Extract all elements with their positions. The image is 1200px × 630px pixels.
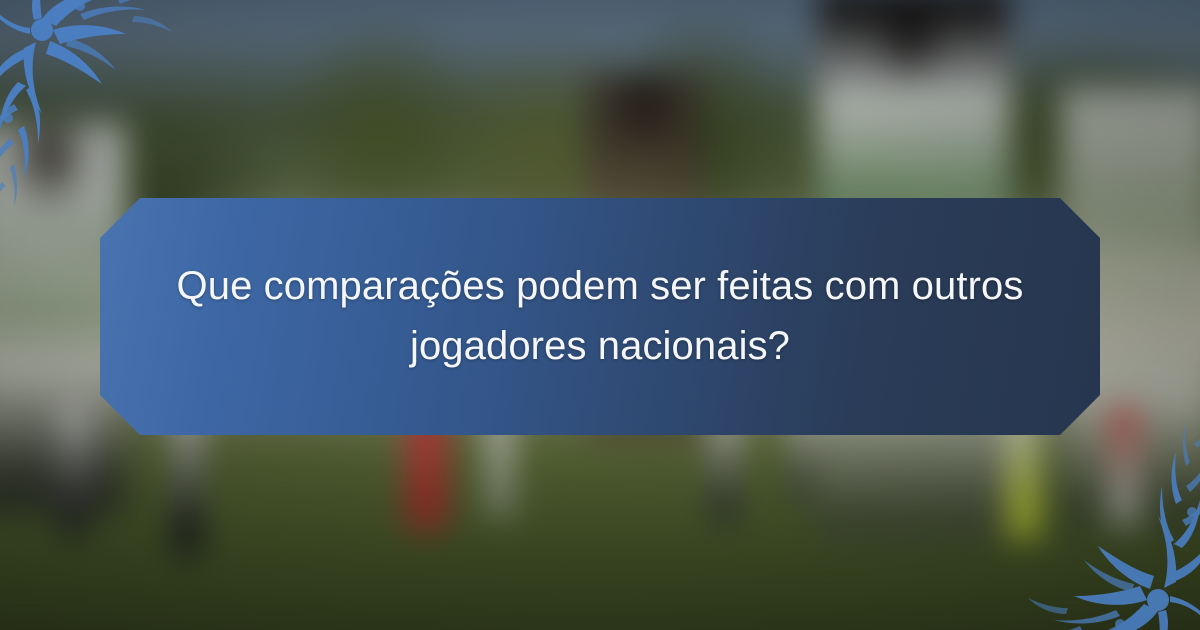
headline-banner: Que comparações podem ser feitas com out… <box>100 198 1100 435</box>
headline-text: Que comparações podem ser feitas com out… <box>170 257 1030 375</box>
social-card: Que comparações podem ser feitas com out… <box>0 0 1200 630</box>
